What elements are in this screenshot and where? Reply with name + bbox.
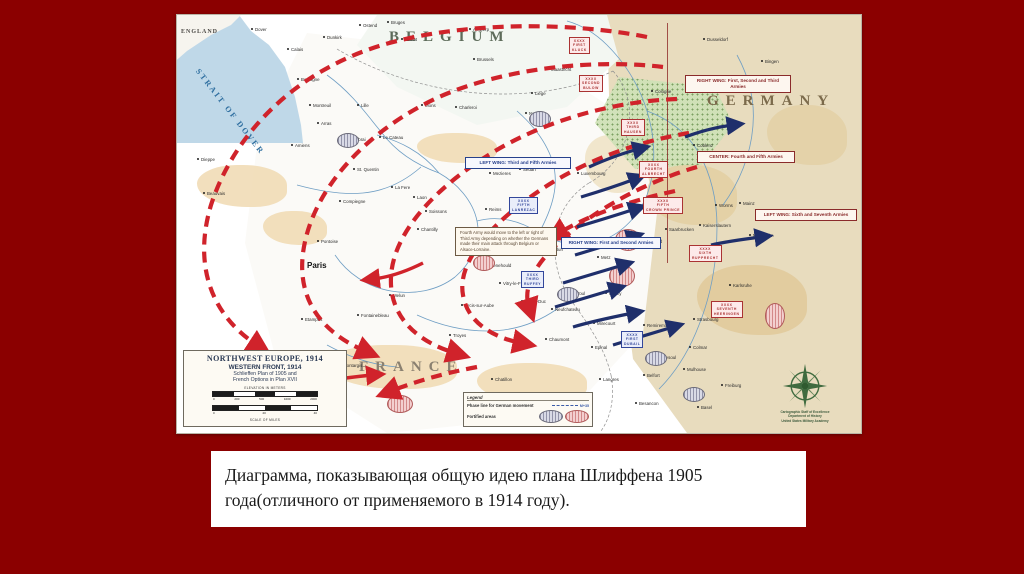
terrain-shading	[197, 165, 287, 207]
country-label-france: FRANCE	[359, 359, 464, 376]
city-label: Chatillon	[495, 377, 512, 382]
fortified-area-symbol	[473, 255, 495, 271]
city-label: Lille	[361, 103, 369, 108]
legend-phase-value: M+35	[580, 404, 589, 408]
city-label: Nancy	[609, 291, 621, 296]
elevation-tick: 2000	[310, 397, 317, 401]
callout-german-left-wing: LEFT WING: Sixth and Seventh Armies	[755, 209, 857, 221]
city-label: Chaumont	[549, 337, 569, 342]
city-label: Antwerp	[473, 27, 489, 32]
scale-caption: SCALE OF MILES	[186, 418, 344, 422]
unit-marker-second-army: XXXX SECOND BULOW	[579, 75, 603, 92]
fortified-area-symbol	[765, 303, 785, 329]
elevation-tick: 0	[213, 397, 215, 401]
city-label-paris: Paris	[307, 261, 327, 270]
city-label: Brussels	[477, 57, 494, 62]
city-label: Soissons	[429, 209, 447, 214]
unit-marker-seventh-army: XXXX SEVENTH HEERINGEN	[711, 301, 743, 318]
city-label: Compiegne	[343, 199, 365, 204]
city-label: Mezieres	[493, 171, 511, 176]
unit-marker-first-army: XXXX FIRST KLUCK	[569, 37, 590, 54]
city-label: Cologne	[655, 89, 671, 94]
city-label: Worms	[719, 203, 733, 208]
fortified-area-symbol	[557, 287, 579, 302]
city-label: Bruges	[391, 20, 405, 25]
legend-key-dashed-line: M+35	[552, 404, 589, 408]
city-label: Le Cateau	[383, 135, 403, 140]
city-label: Neufchateau	[555, 307, 580, 312]
city-label: Kaiserslautern	[703, 223, 731, 228]
city-label: Maastricht	[551, 67, 571, 72]
city-label: Chantilly	[421, 227, 438, 232]
legend-row-fortified: Fortified areas	[467, 410, 589, 423]
city-label: Montreuil	[313, 103, 331, 108]
fortified-area-symbol	[683, 387, 705, 402]
city-label: Mulhouse	[687, 367, 706, 372]
city-label: Saarbrucken	[669, 227, 694, 232]
caption-text: Диаграмма, показывающая общую идею плана…	[225, 463, 792, 513]
city-label: Fontainebleau	[361, 313, 389, 318]
fortified-area-icon-red	[565, 410, 589, 423]
elevation-tick: 1000	[284, 397, 291, 401]
city-label: Ghent	[405, 37, 417, 42]
scale-tick: 40	[314, 411, 317, 415]
city-label: Etampes	[305, 317, 322, 322]
map-title-line2: WESTERN FRONT, 1914	[186, 364, 344, 371]
city-label: Reims	[489, 207, 501, 212]
legend-label: Fortified areas	[467, 414, 496, 419]
map-title-line1: NORTHWEST EUROPE, 1914	[186, 354, 344, 363]
city-label: Pontoise	[321, 239, 338, 244]
elevation-ticks: 0 200 500 1000 2000	[213, 397, 317, 401]
city-label: Ostend	[363, 23, 377, 28]
city-label: Arcis-sur-Aube	[465, 303, 494, 308]
city-label: Calais	[291, 47, 303, 52]
credits-line3: United States Military Academy	[757, 419, 853, 423]
fortified-area-icon-grey	[539, 410, 563, 423]
legend-title: Legend	[467, 395, 589, 401]
fortified-area-symbol	[645, 351, 667, 366]
legend-key-fortified	[539, 410, 589, 423]
city-label: Mainz	[743, 201, 755, 206]
country-label-england: ENGLAND	[181, 29, 218, 35]
callout-fourth-army-note: Fourth Army would move to the left or ri…	[455, 227, 557, 256]
dashed-line-icon	[552, 405, 578, 406]
elevation-tick: 500	[259, 397, 264, 401]
city-label: Remiremont	[647, 323, 671, 328]
country-label-germany: GERMANY	[707, 93, 835, 110]
callout-french-left-wing: LEFT WING: Third and Fifth Armies	[465, 157, 571, 169]
caption-box: Диаграмма, показывающая общую идею плана…	[211, 451, 806, 527]
callout-french-right-wing: RIGHT WING: First and Second Armies	[561, 237, 661, 249]
city-label: Epinal	[595, 345, 607, 350]
callout-german-center: CENTER: Fourth and Fifth Armies	[697, 151, 795, 163]
city-label: Besancon	[639, 401, 659, 406]
city-label: Freiburg	[725, 383, 741, 388]
city-label: Boulogne	[301, 77, 320, 82]
city-label: Mons	[425, 103, 436, 108]
unit-marker-sixth-army: XXXX SIXTH RUPPRECHT	[689, 245, 722, 262]
map-legend: Legend Phase line for German movement M+…	[463, 392, 593, 427]
unit-marker-french-first-army: XXXX FIRST DUBAIL	[621, 331, 643, 348]
city-label: Troyes	[453, 333, 466, 338]
city-label: Melun	[393, 293, 405, 298]
city-label: Charleroi	[459, 105, 477, 110]
city-label: Karlsruhe	[733, 283, 752, 288]
scale-ticks: 0 20 40	[213, 411, 317, 415]
compass-rose-icon	[782, 363, 828, 409]
unit-marker-fifth-army: XXXX FIFTH CROWN PRINCE	[643, 197, 683, 214]
map-title-line4: French Options in Plan XVII	[186, 377, 344, 383]
elevation-caption: ELEVATION IN METERS	[186, 386, 344, 390]
city-label: Amiens	[295, 143, 310, 148]
city-label: Beauvais	[207, 191, 225, 196]
city-label: Strasbourg	[697, 317, 718, 322]
city-label: Coblenz	[697, 143, 713, 148]
map-title-block: NORTHWEST EUROPE, 1914 WESTERN FRONT, 19…	[183, 350, 347, 427]
city-label: Langres	[603, 377, 619, 382]
unit-marker-third-army: XXXX THIRD HAUSEN	[621, 119, 645, 136]
city-label: Arras	[321, 121, 332, 126]
city-label: Belfort	[647, 373, 660, 378]
unit-marker-fourth-army: XXXX FOURTH ALBRECHT	[639, 161, 668, 178]
city-label: Liege	[535, 91, 546, 96]
frontier-emphasis-line	[667, 23, 668, 263]
legend-row-phase-line: Phase line for German movement M+35	[467, 403, 589, 408]
elevation-tick: 200	[234, 397, 239, 401]
fortified-area-symbol	[337, 133, 359, 148]
city-label: Luxembourg	[581, 171, 605, 176]
legend-label: Phase line for German movement	[467, 403, 534, 408]
fortified-area-symbol	[609, 265, 635, 287]
city-label: Dunkirk	[327, 35, 342, 40]
city-label: Bingen	[765, 59, 779, 64]
scale-tick: 20	[262, 411, 265, 415]
fortified-area-symbol	[529, 111, 551, 127]
map-credits: Cartographic Staff of Excellence Departm…	[757, 410, 853, 423]
slide-canvas: BELGIUM GERMANY FRANCE ENGLAND STRAIT OF…	[0, 0, 1024, 574]
city-label: La Fere	[395, 185, 410, 190]
fortified-area-symbol	[387, 395, 413, 413]
unit-marker-french-fifth-army: XXXX FIFTH LANREZAC	[509, 197, 538, 214]
compass-and-credits: Cartographic Staff of Excellence Departm…	[757, 363, 853, 423]
callout-german-right-wing: RIGHT WING: First, Second and Third Armi…	[685, 75, 791, 93]
city-label: Metz	[601, 255, 611, 260]
city-label: Dover	[255, 27, 267, 32]
map-canvas: BELGIUM GERMANY FRANCE ENGLAND STRAIT OF…	[177, 15, 861, 433]
scale-tick: 0	[213, 411, 215, 415]
city-label: Basel	[701, 405, 712, 410]
city-label: Mannheim	[753, 233, 774, 238]
city-label: Colmar	[693, 345, 707, 350]
city-label: Laon	[417, 195, 427, 200]
city-label: Bar-le-Duc	[525, 299, 546, 304]
city-label: St. Quentin	[357, 167, 379, 172]
city-label: Mirecourt	[597, 321, 615, 326]
map-image[interactable]: BELGIUM GERMANY FRANCE ENGLAND STRAIT OF…	[176, 14, 862, 434]
unit-marker-french-third-army: XXXX THIRD RUFFEY	[521, 271, 544, 288]
city-label: Dieppe	[201, 157, 215, 162]
city-label: Dusseldorf	[707, 37, 728, 42]
